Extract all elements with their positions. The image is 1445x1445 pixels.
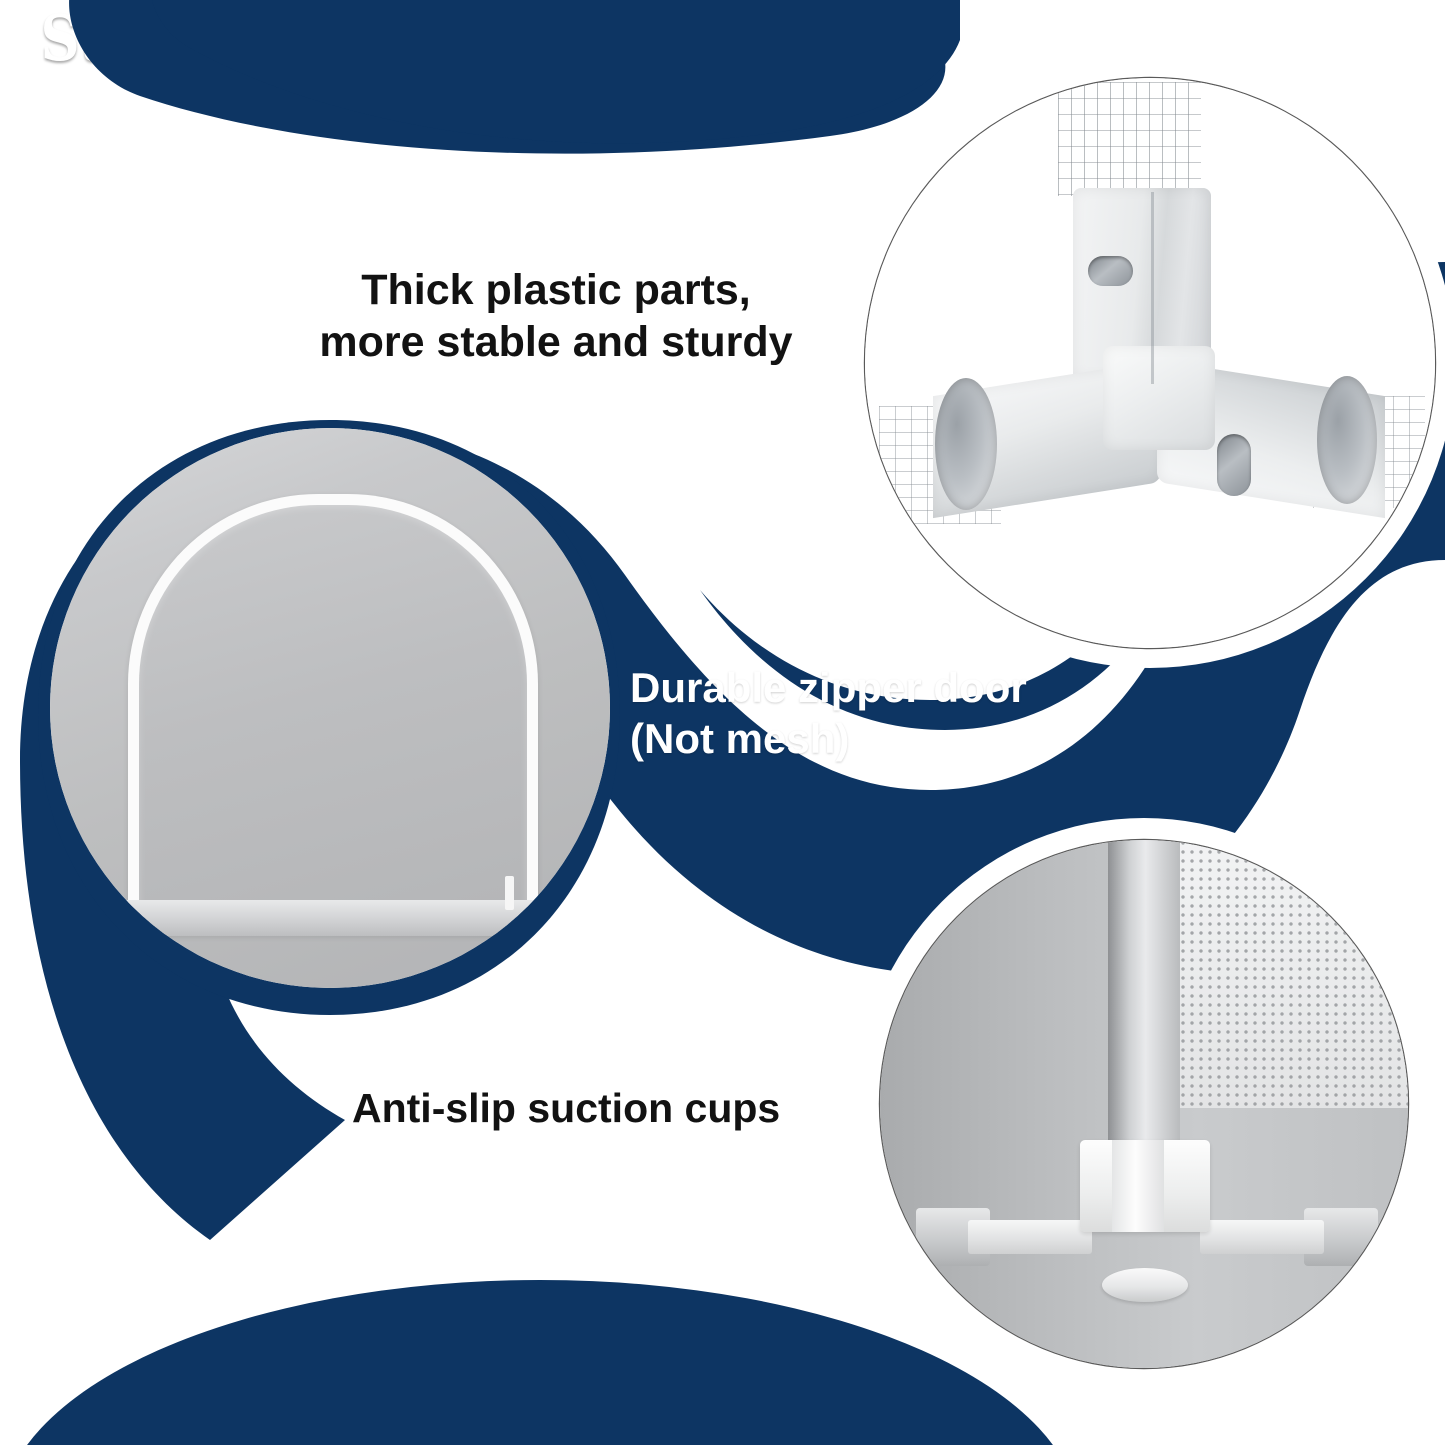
right-frame-rod	[1200, 1220, 1324, 1254]
connector-left-tube-opening	[935, 378, 997, 510]
suction-cup-photo	[880, 840, 1408, 1368]
anti-slip-suction-cup	[1102, 1268, 1188, 1302]
connector-corner-hub	[1103, 346, 1215, 450]
connector-right-slot	[1217, 434, 1251, 496]
feature-caption-anti-slip-suction-cups: Anti-slip suction cups	[352, 1083, 822, 1133]
door-bottom-edge	[96, 900, 548, 936]
zipper-pull	[505, 876, 514, 910]
mesh-panel-texture	[1180, 840, 1408, 1108]
tee-connector-stem	[1112, 1140, 1164, 1232]
feature-caption-thick-plastic-parts: Thick plastic parts, more stable and stu…	[296, 264, 816, 369]
zipper-arch-track	[128, 494, 538, 935]
feature-caption-durable-zipper-door: Durable zipper door (Not mesh)	[630, 662, 1100, 764]
mesh-fabric-vertical	[1058, 82, 1201, 196]
corner-connector-photo	[865, 78, 1435, 648]
left-frame-rod	[968, 1220, 1092, 1254]
connector-right-tube-opening	[1317, 376, 1377, 504]
zipper-door-photo	[50, 428, 610, 988]
infographic-canvas: Stable Construction Thick plastic parts,…	[0, 0, 1445, 1445]
vertical-frame-post	[1108, 840, 1180, 1158]
connector-rib-line	[1151, 192, 1154, 384]
connector-vertical-slot	[1088, 256, 1133, 286]
